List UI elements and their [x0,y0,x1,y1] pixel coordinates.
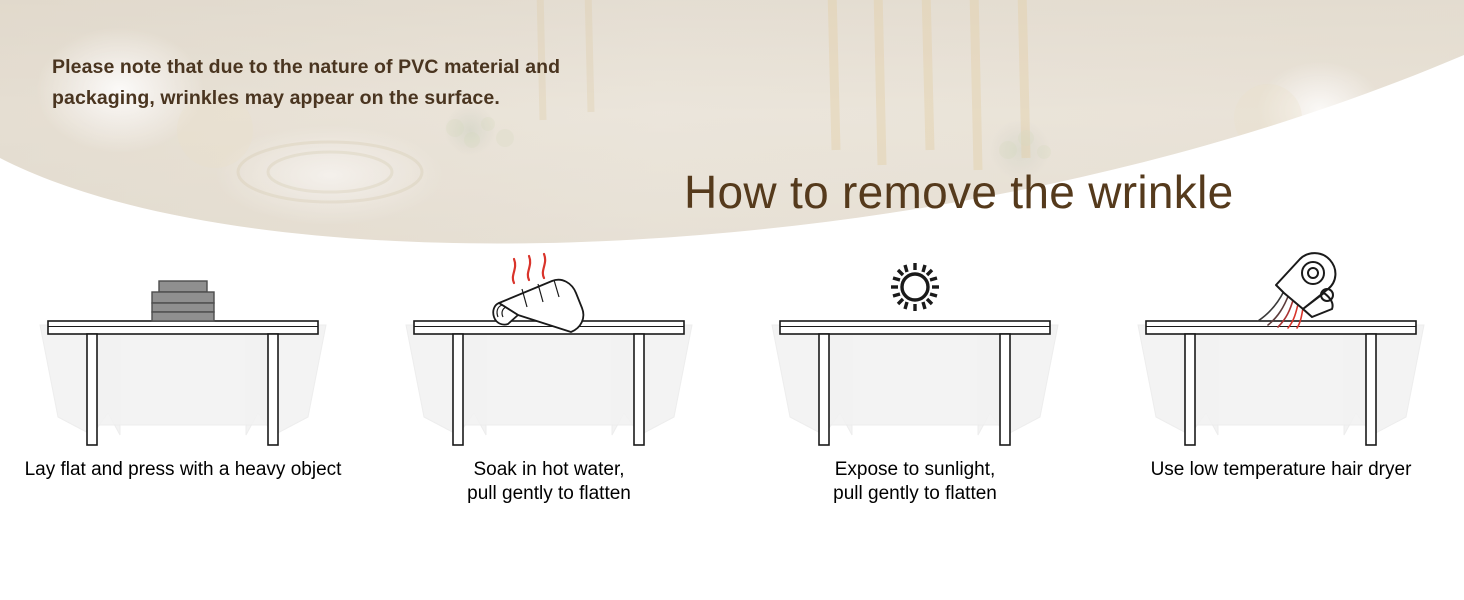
caption-line: Soak in hot water, [366,458,732,482]
scene-hair-dryer [1098,245,1464,460]
scene-lay-flat [0,245,366,460]
step-caption-2: Soak in hot water, pull gently to flatte… [366,458,732,506]
table-top [780,321,1050,334]
caption-line: Use low temperature hair dryer [1098,458,1464,482]
scene-soak-hot-water [366,245,732,460]
step-caption-1: Lay flat and press with a heavy object [0,458,366,482]
table-top [48,321,318,334]
step-caption-4: Use low temperature hair dryer [1098,458,1464,482]
notice-line-1: Please note that due to the nature of PV… [52,52,692,83]
tablecloth [40,325,326,435]
sun-icon [891,263,939,311]
steam-lines-icon [513,254,545,283]
tablecloth [406,325,692,435]
caption-line: pull gently to flatten [366,482,732,506]
caption-line: Expose to sunlight, [732,458,1098,482]
step-panel-3: Expose to sunlight, pull gently to flatt… [732,245,1098,545]
tablecloth [772,325,1058,435]
page-title: How to remove the wrinkle [684,165,1233,219]
step-panel-2: Soak in hot water, pull gently to flatte… [366,245,732,545]
caption-line: pull gently to flatten [732,482,1098,506]
steps-row: Lay flat and press with a heavy object [0,245,1464,545]
notice-line-2: packaging, wrinkles may appear on the su… [52,83,692,114]
step-caption-3: Expose to sunlight, pull gently to flatt… [732,458,1098,506]
pvc-notice-text: Please note that due to the nature of PV… [52,52,692,114]
caption-line: Lay flat and press with a heavy object [0,458,366,482]
step-panel-1: Lay flat and press with a heavy object [0,245,366,545]
infographic-stage: Please note that due to the nature of PV… [0,0,1464,600]
stacked-weights-icon [152,281,214,321]
tablecloth [1138,325,1424,435]
hair-dryer-icon [1276,253,1335,317]
scene-expose-sunlight [732,245,1098,460]
steaming-rolled-cloth-icon [493,254,583,332]
step-panel-4: Use low temperature hair dryer [1098,245,1464,545]
